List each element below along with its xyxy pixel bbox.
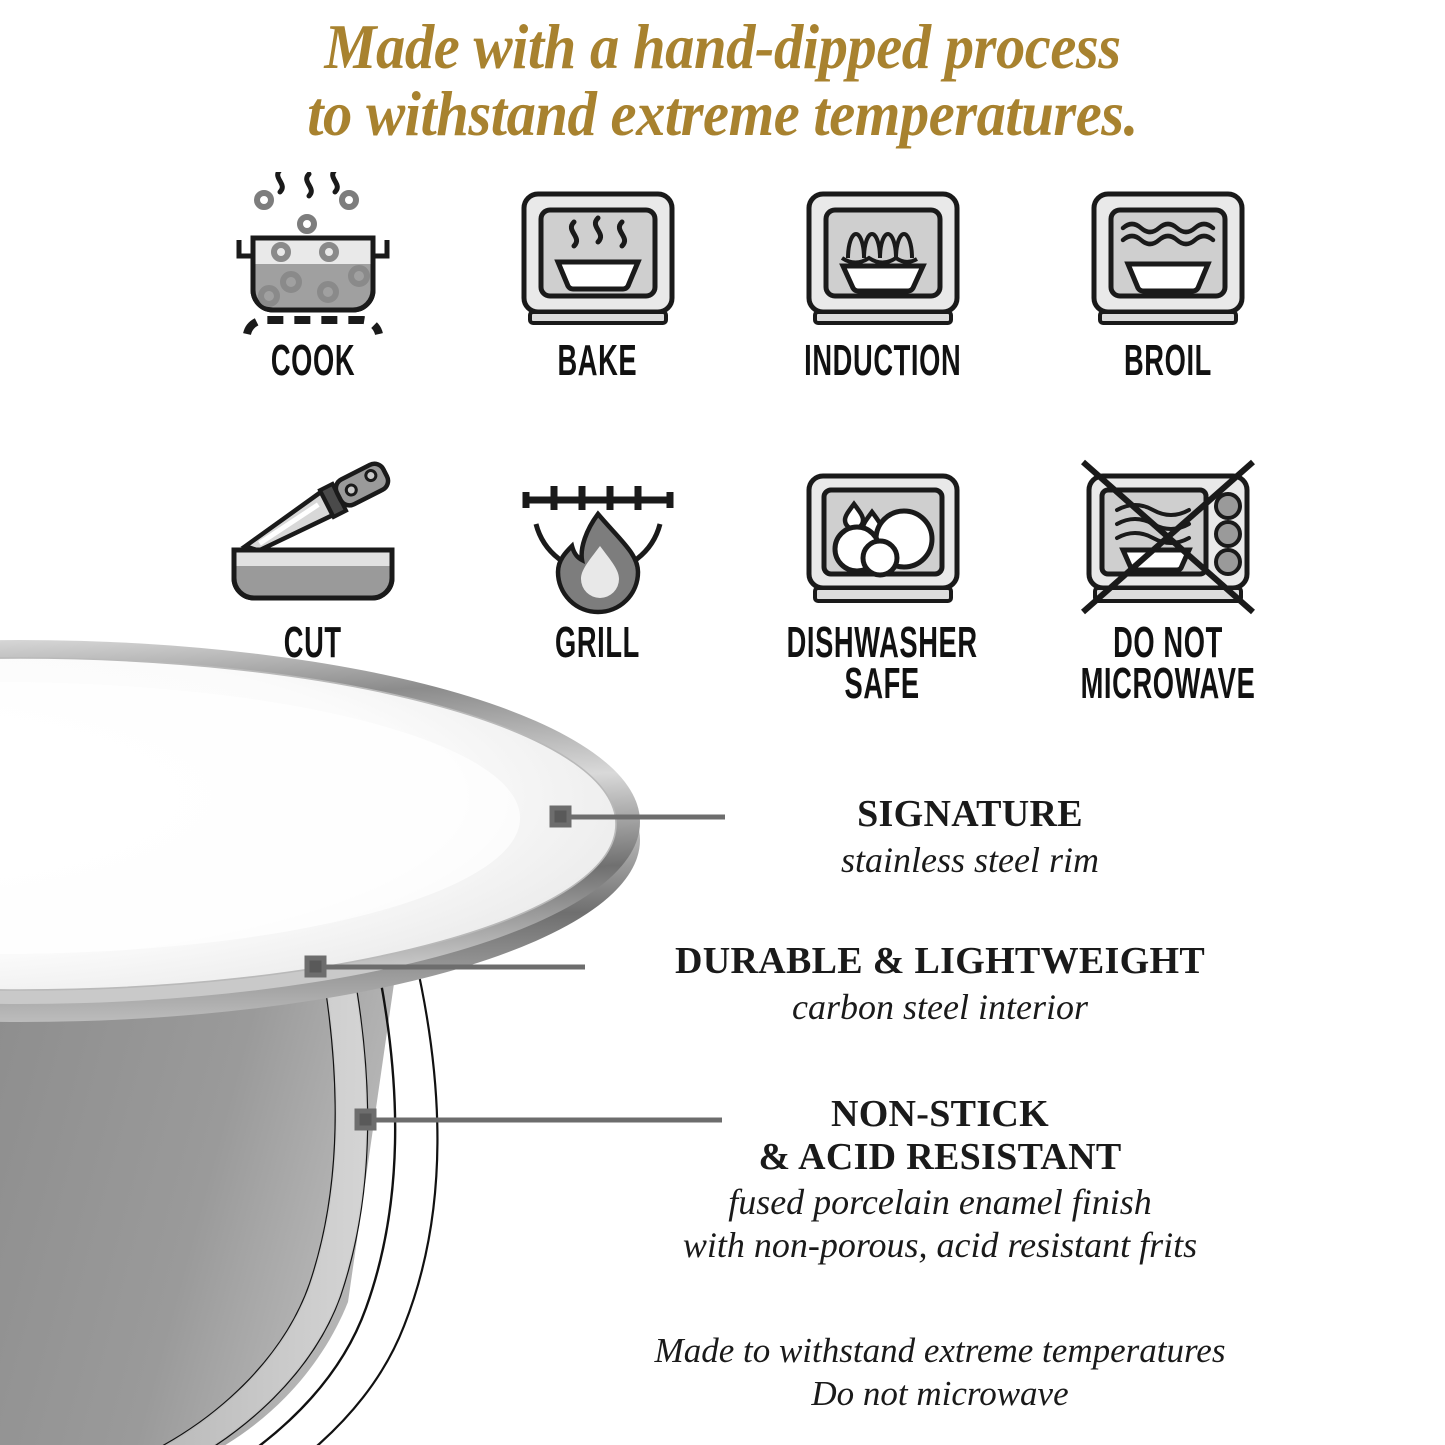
dishwasher-plate-small (863, 541, 897, 575)
callout-title-durable: DURABLE & LIGHTWEIGHT (560, 940, 1320, 983)
icon-label-bake: BAKE (558, 341, 638, 382)
grill-art (508, 454, 688, 619)
icon-label-do-not-microwave: DO NOT MICROWAVE (1080, 623, 1255, 705)
icon-label-cut: CUT (284, 623, 342, 664)
icon-cell-do-not-microwave: DO NOT MICROWAVE (1025, 454, 1310, 705)
bake-oven-base (530, 312, 666, 323)
cook-icon (223, 172, 403, 337)
callout-title-signature: SIGNATURE (620, 793, 1320, 836)
footnote-line-1: Made to withstand extreme temperatures (540, 1330, 1340, 1373)
induction-dish (843, 266, 923, 291)
cook-art (223, 172, 403, 337)
cook-heat-line (247, 320, 379, 334)
icon-row-2: CUT (170, 454, 1310, 705)
icon-cell-broil: BROIL (1025, 172, 1310, 382)
callout-non-stick: NON-STICK & ACID RESISTANT fused porcela… (560, 1093, 1320, 1267)
microwave-knob-2 (1216, 522, 1240, 546)
icon-label-broil: BROIL (1124, 341, 1212, 382)
microwave-art (1073, 454, 1263, 619)
icon-cell-grill: GRILL (455, 454, 740, 705)
broil-oven-base (1100, 312, 1236, 323)
icon-cell-cook: COOK (170, 172, 455, 382)
icon-label-dishwasher-safe: DISHWASHER SAFE (787, 623, 978, 705)
cut-pan-fill (234, 566, 392, 598)
callout-durable-lightweight: DURABLE & LIGHTWEIGHT carbon steel inter… (560, 940, 1320, 1029)
callout-title-non-stick: NON-STICK & ACID RESISTANT (560, 1093, 1320, 1178)
headline-line-2: to withstand extreme temperatures. (51, 81, 1395, 148)
dishwasher-art (793, 454, 973, 619)
icon-cell-bake: BAKE (455, 172, 740, 382)
knife-handle (332, 460, 391, 509)
bake-icon (508, 172, 688, 337)
callout-subtitle-durable: carbon steel interior (560, 986, 1320, 1029)
infographic-root: Made with a hand-dipped process to withs… (0, 0, 1445, 1445)
icon-label-induction: INDUCTION (804, 341, 961, 382)
dishwasher-base (815, 588, 951, 601)
cut-art (218, 454, 408, 619)
feature-icon-grid: COOK (170, 172, 1310, 705)
callout-subtitle-non-stick: fused porcelain enamel finish with non-p… (560, 1181, 1320, 1267)
do-not-microwave-icon (1073, 454, 1263, 619)
induction-art (793, 172, 973, 337)
icon-label-grill: GRILL (555, 623, 640, 664)
cut-icon (218, 454, 408, 619)
icon-row-1: COOK (170, 172, 1310, 382)
callout-signature: SIGNATURE stainless steel rim (620, 793, 1320, 882)
broil-icon (1078, 172, 1258, 337)
induction-oven-base (815, 312, 951, 323)
headline-line-1: Made with a hand-dipped process (324, 12, 1120, 82)
microwave-knob-3 (1216, 550, 1240, 574)
icon-label-cook: COOK (270, 341, 354, 382)
microwave-base (1095, 588, 1241, 601)
icon-cell-dishwasher-safe: DISHWASHER SAFE (740, 454, 1025, 705)
grill-icon (508, 454, 688, 619)
footnote-line-2: Do not microwave (540, 1373, 1340, 1416)
icon-cell-cut: CUT (170, 454, 455, 705)
page-title: Made with a hand-dipped process to withs… (51, 14, 1395, 149)
bake-dish (558, 262, 638, 289)
induction-icon (793, 172, 973, 337)
callout-subtitle-signature: stainless steel rim (620, 839, 1320, 882)
icon-cell-induction: INDUCTION (740, 172, 1025, 382)
dishwasher-safe-icon (793, 454, 973, 619)
broil-art (1078, 172, 1258, 337)
microwave-knob-1 (1216, 494, 1240, 518)
bake-art (508, 172, 688, 337)
footnote: Made to withstand extreme temperatures D… (540, 1330, 1340, 1415)
broil-dish (1128, 264, 1208, 291)
